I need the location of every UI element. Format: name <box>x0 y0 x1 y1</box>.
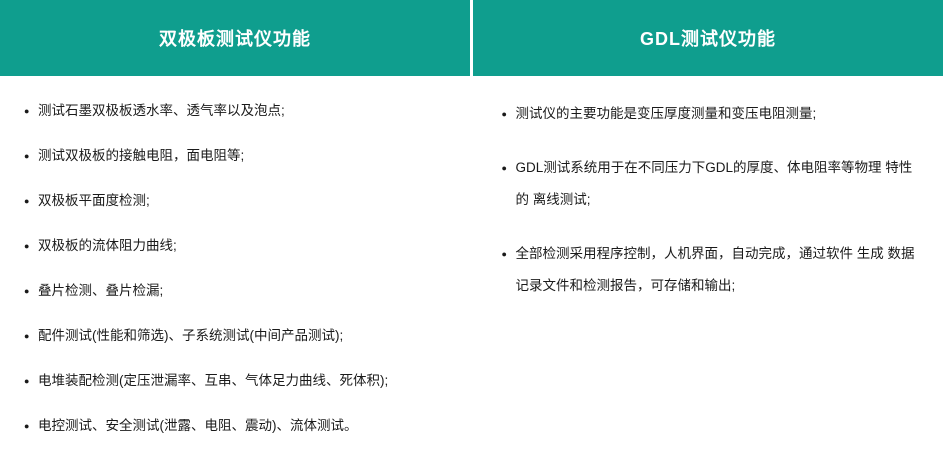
list-item: 双极板的流体阻力曲线; <box>24 233 438 259</box>
list-item: 双极板平面度检测; <box>24 188 438 214</box>
list-item: 测试石墨双极板透水率、透气率以及泡点; <box>24 98 438 124</box>
list-item: GDL测试系统用于在不同压力下GDL的厚度、体电阻率等物理 特性 的 离线测试; <box>502 152 916 216</box>
list-item: 电堆装配检测(定压泄漏率、互串、气体足力曲线、死体积); <box>24 368 438 394</box>
list-item: 测试双极板的接触电阻，面电阻等; <box>24 143 438 169</box>
table-header-row: 双极板测试仪功能 GDL测试仪功能 <box>0 0 943 76</box>
list-item: 叠片检测、叠片检漏; <box>24 278 438 304</box>
table-body-row: 测试石墨双极板透水率、透气率以及泡点; 测试双极板的接触电阻，面电阻等; 双极板… <box>0 76 943 476</box>
feature-list-bipolar-plate: 测试石墨双极板透水率、透气率以及泡点; 测试双极板的接触电阻，面电阻等; 双极板… <box>24 98 438 439</box>
list-item: 全部检测采用程序控制，人机界面，自动完成，通过软件 生成 数据记录文件和检测报告… <box>502 238 916 302</box>
column-header-bipolar-plate: 双极板测试仪功能 <box>0 0 473 76</box>
feature-list-gdl: 测试仪的主要功能是变压厚度测量和变压电阻测量; GDL测试系统用于在不同压力下G… <box>502 98 916 302</box>
list-item: 配件测试(性能和筛选)、子系统测试(中间产品测试); <box>24 323 438 349</box>
features-table: 双极板测试仪功能 GDL测试仪功能 测试石墨双极板透水率、透气率以及泡点; 测试… <box>0 0 943 476</box>
list-item: 测试仪的主要功能是变压厚度测量和变压电阻测量; <box>502 98 916 130</box>
column-body-bipolar-plate: 测试石墨双极板透水率、透气率以及泡点; 测试双极板的接触电阻，面电阻等; 双极板… <box>0 76 464 476</box>
column-header-gdl: GDL测试仪功能 <box>473 0 943 76</box>
list-item: 电控测试、安全测试(泄露、电阻、震动)、流体测试。 <box>24 413 438 439</box>
column-body-gdl: 测试仪的主要功能是变压厚度测量和变压电阻测量; GDL测试系统用于在不同压力下G… <box>464 76 943 476</box>
